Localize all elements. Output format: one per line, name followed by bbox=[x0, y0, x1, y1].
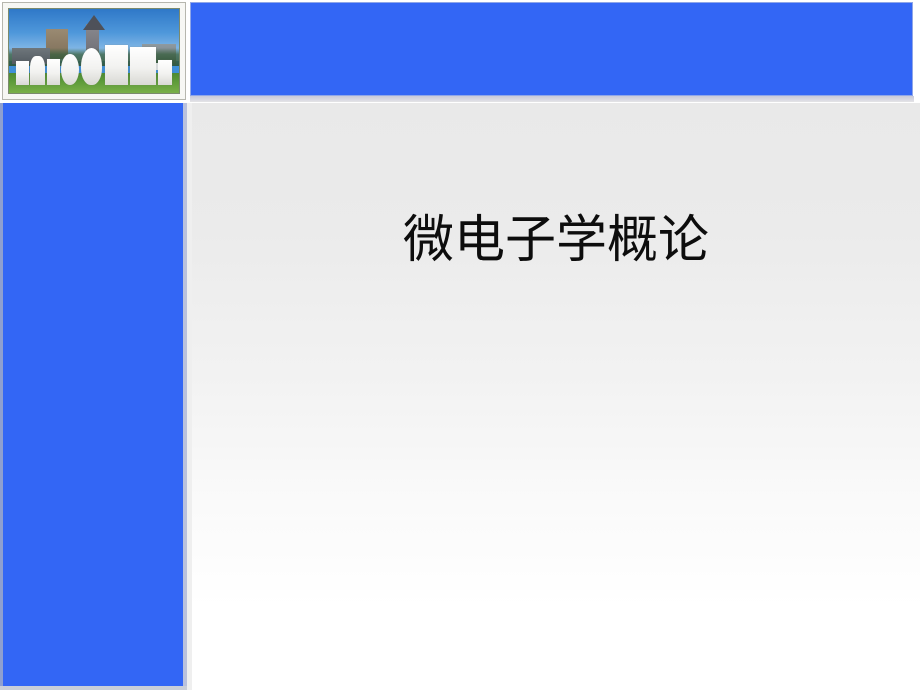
campus-photo bbox=[8, 8, 180, 94]
photo-letter-2 bbox=[30, 56, 45, 85]
presentation-slide: 微电子学概论 bbox=[0, 0, 920, 690]
photo-letter-5 bbox=[81, 48, 102, 85]
logo-photo-frame bbox=[2, 2, 186, 100]
photo-letter-3 bbox=[47, 59, 60, 86]
sidebar-panel bbox=[3, 103, 183, 686]
slide-title: 微电子学概论 bbox=[192, 206, 920, 276]
sidebar-gutter bbox=[187, 103, 192, 690]
photo-letter-6 bbox=[105, 45, 128, 85]
sidebar-bottom-edge bbox=[0, 686, 187, 690]
photo-letter-1 bbox=[16, 61, 29, 85]
header-bar bbox=[190, 2, 913, 96]
photo-letter-4 bbox=[61, 54, 79, 85]
photo-letter-7 bbox=[130, 47, 156, 86]
header-bar-shadow bbox=[190, 96, 914, 102]
sidebar-right-edge bbox=[183, 103, 187, 686]
slide-content-panel bbox=[192, 103, 920, 690]
photo-letter-8 bbox=[158, 60, 173, 85]
photo-letter-sculptures bbox=[12, 45, 175, 85]
